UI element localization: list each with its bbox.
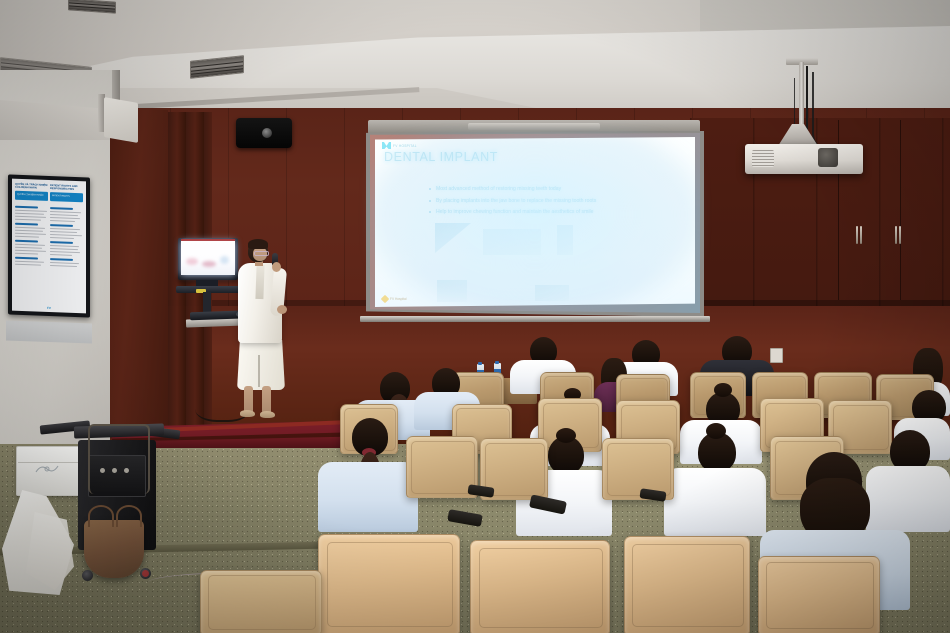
slide-image-left [435,223,471,253]
cabinet-handle-left-2 [860,226,862,244]
cart-push-handle[interactable] [88,424,150,494]
handbag-strap-right [116,505,142,527]
poster-title-en: PATIENT RIGHTS AND RESPONSIBILITIES [50,184,83,192]
cabinet-handle-right-2 [899,226,901,244]
slide-bullet: Most advanced method of restoring missin… [429,186,687,193]
monitor-content-blob-2 [202,261,216,267]
seat[interactable] [470,540,610,633]
projector-vent-grille-icon [752,150,774,167]
audience-hair-bun [714,383,732,397]
water-bottle-1-cap [478,362,482,365]
slide-bullet-list: Most advanced method of restoring missin… [389,186,687,221]
seat[interactable] [624,536,750,633]
seat[interactable] [318,534,460,633]
presenter-skirt-seam [258,355,260,387]
seat[interactable] [758,556,880,633]
poster-columns [12,200,86,272]
box-printed-glyph-icon [34,462,60,476]
slide-footer: FV Hospital [382,296,406,302]
projector-lens-icon [818,148,838,167]
slide-logo-text: FV HOSPITAL [393,144,417,148]
poster-band-vi: QUYỀN CỦA BỆNH NHÂN [15,191,48,201]
wall-speaker-driver [262,128,272,138]
slide-image-center [483,229,541,255]
poster-content: QUYỀN VÀ TRÁCH NHIỆM CỦA BỆNH NHÂN PATIE… [12,179,86,314]
slide-title: DENTAL IMPLANT [384,150,498,164]
poster-footer-logo: FV [12,305,86,312]
slide-footer-diamond-icon [381,295,389,303]
audience-hair-bun [556,428,576,443]
presenter-hand-lower [277,305,287,314]
auditorium-photo: QUYỀN VÀ TRÁCH NHIỆM CỦA BỆNH NHÂN PATIE… [0,0,950,633]
slide-image-right [557,225,573,255]
poster-col-en [50,205,83,270]
poster-col-vi [15,203,48,268]
audience-shoulders [664,468,766,536]
wood-column-left [110,110,168,440]
presenter-shoe-left [240,410,255,417]
cart-wheel-red-hub [142,570,149,577]
monitor-content-blob-3 [220,256,229,264]
seat[interactable] [200,570,322,633]
podium-floor-cable [195,390,250,422]
wall-plaque-secondary [6,320,92,343]
slide-logo-mark-icon [382,142,391,149]
projector-cable-2 [812,72,840,148]
audience-shoulders [318,462,418,532]
slide-image-bottom-left [437,280,467,302]
presenter-hair [248,239,268,249]
monitor-top-accent [181,239,235,241]
cabinet-seam-2 [900,120,901,300]
handbag-strap-left [88,505,114,527]
slide-footer-text: FV Hospital [390,297,406,301]
slide-logo: FV HOSPITAL [382,142,417,149]
presenter-shoe-right [260,411,275,418]
screen-bottom-weight-bar [360,316,710,322]
monitor-content-blob-1 [186,258,198,265]
cart-wheel-left [82,570,93,581]
slide-dental-implant: FV HOSPITAL DENTAL IMPLANT Most advanced… [375,137,695,307]
slide-bullet: By placing implants into the jaw bone to… [429,198,687,205]
brown-handbag [84,520,144,578]
tv-panel-left [104,97,138,143]
presenter-leg-right [262,386,271,414]
wall-socket[interactable] [770,348,783,363]
audience-hair-bun [706,423,726,439]
presenter-coat-lapel [255,265,264,299]
poster-band-en: PATIENT RIGHTS [50,193,83,203]
audience-shoulders [866,466,950,532]
poster-title-vi: QUYỀN VÀ TRÁCH NHIỆM CỦA BỆNH NHÂN [15,183,48,191]
cabinet-handle-left [856,226,858,244]
slide-bullet: Help to improve chewing function and mai… [429,209,687,216]
presenter-glasses-icon [254,251,269,256]
cabinet-handle-right [895,226,897,244]
poster-patient-rights: QUYỀN VÀ TRÁCH NHIỆM CỦA BỆNH NHÂN PATIE… [8,174,90,317]
presenter-skirt [237,340,285,390]
presenter-hand-holding-mic [272,262,281,272]
slide-image-bottom-right [535,285,569,301]
water-bottle-2-cap [495,361,499,364]
